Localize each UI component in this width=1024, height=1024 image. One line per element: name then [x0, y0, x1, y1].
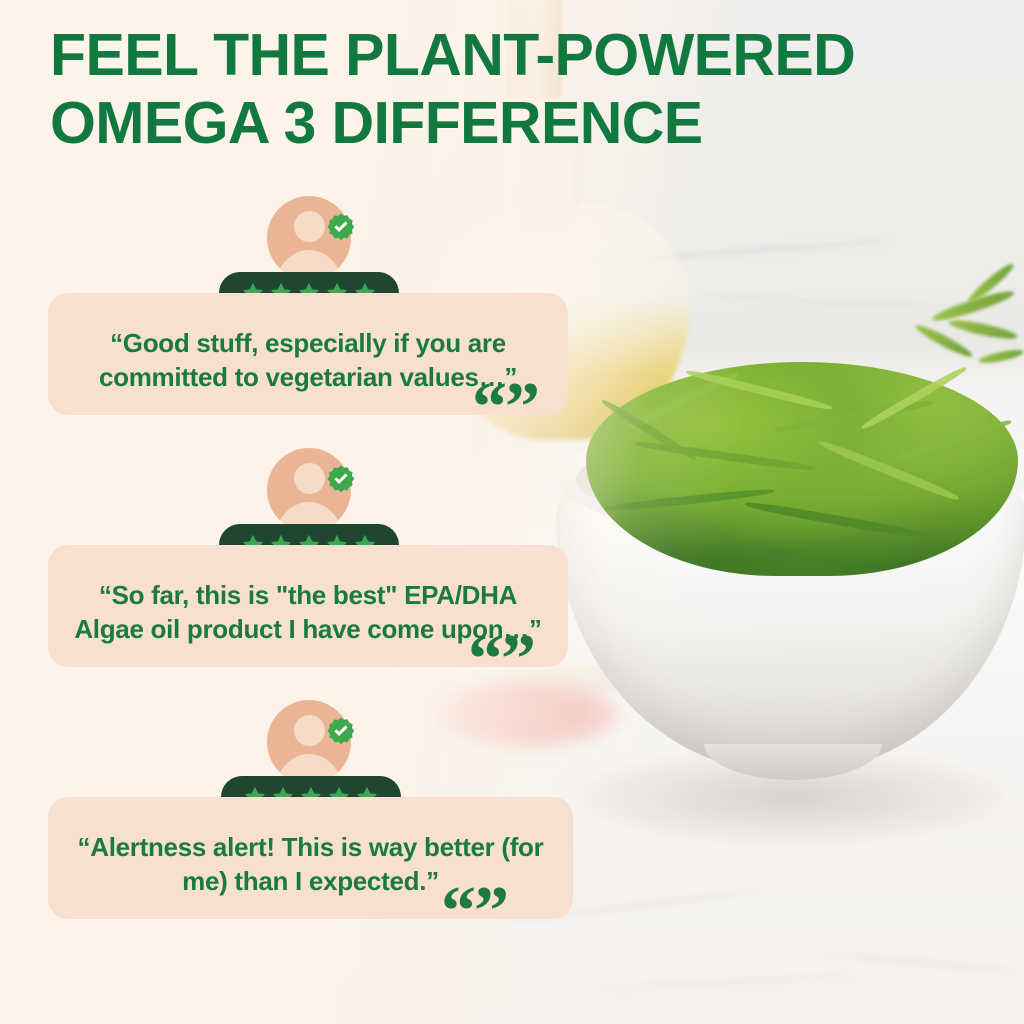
verified-badge-icon [326, 464, 356, 494]
avatar-head [294, 715, 325, 746]
quote-marks-icon: “” [472, 373, 538, 443]
quote-bubble: “Good stuff, especially if you are commi… [48, 293, 568, 415]
quote-bubble: “Alertness alert! This is way better (fo… [48, 797, 573, 919]
headline-line-1: FEEL THE PLANT-POWERED [50, 22, 990, 90]
avatar-head [294, 463, 325, 494]
quote-marks-icon: “” [468, 625, 534, 695]
avatar-head [294, 211, 325, 242]
quote-marks-icon: “” [441, 877, 507, 947]
verified-badge-icon [326, 212, 356, 242]
verified-badge-icon [326, 716, 356, 746]
headline-line-2: OMEGA 3 DIFFERENCE [50, 90, 990, 158]
quote-bubble: “So far, this is "the best" EPA/DHA Alga… [48, 545, 568, 667]
page-title: FEEL THE PLANT-POWERED OMEGA 3 DIFFERENC… [50, 22, 990, 158]
promo-image: FEEL THE PLANT-POWERED OMEGA 3 DIFFERENC… [0, 0, 1024, 1024]
